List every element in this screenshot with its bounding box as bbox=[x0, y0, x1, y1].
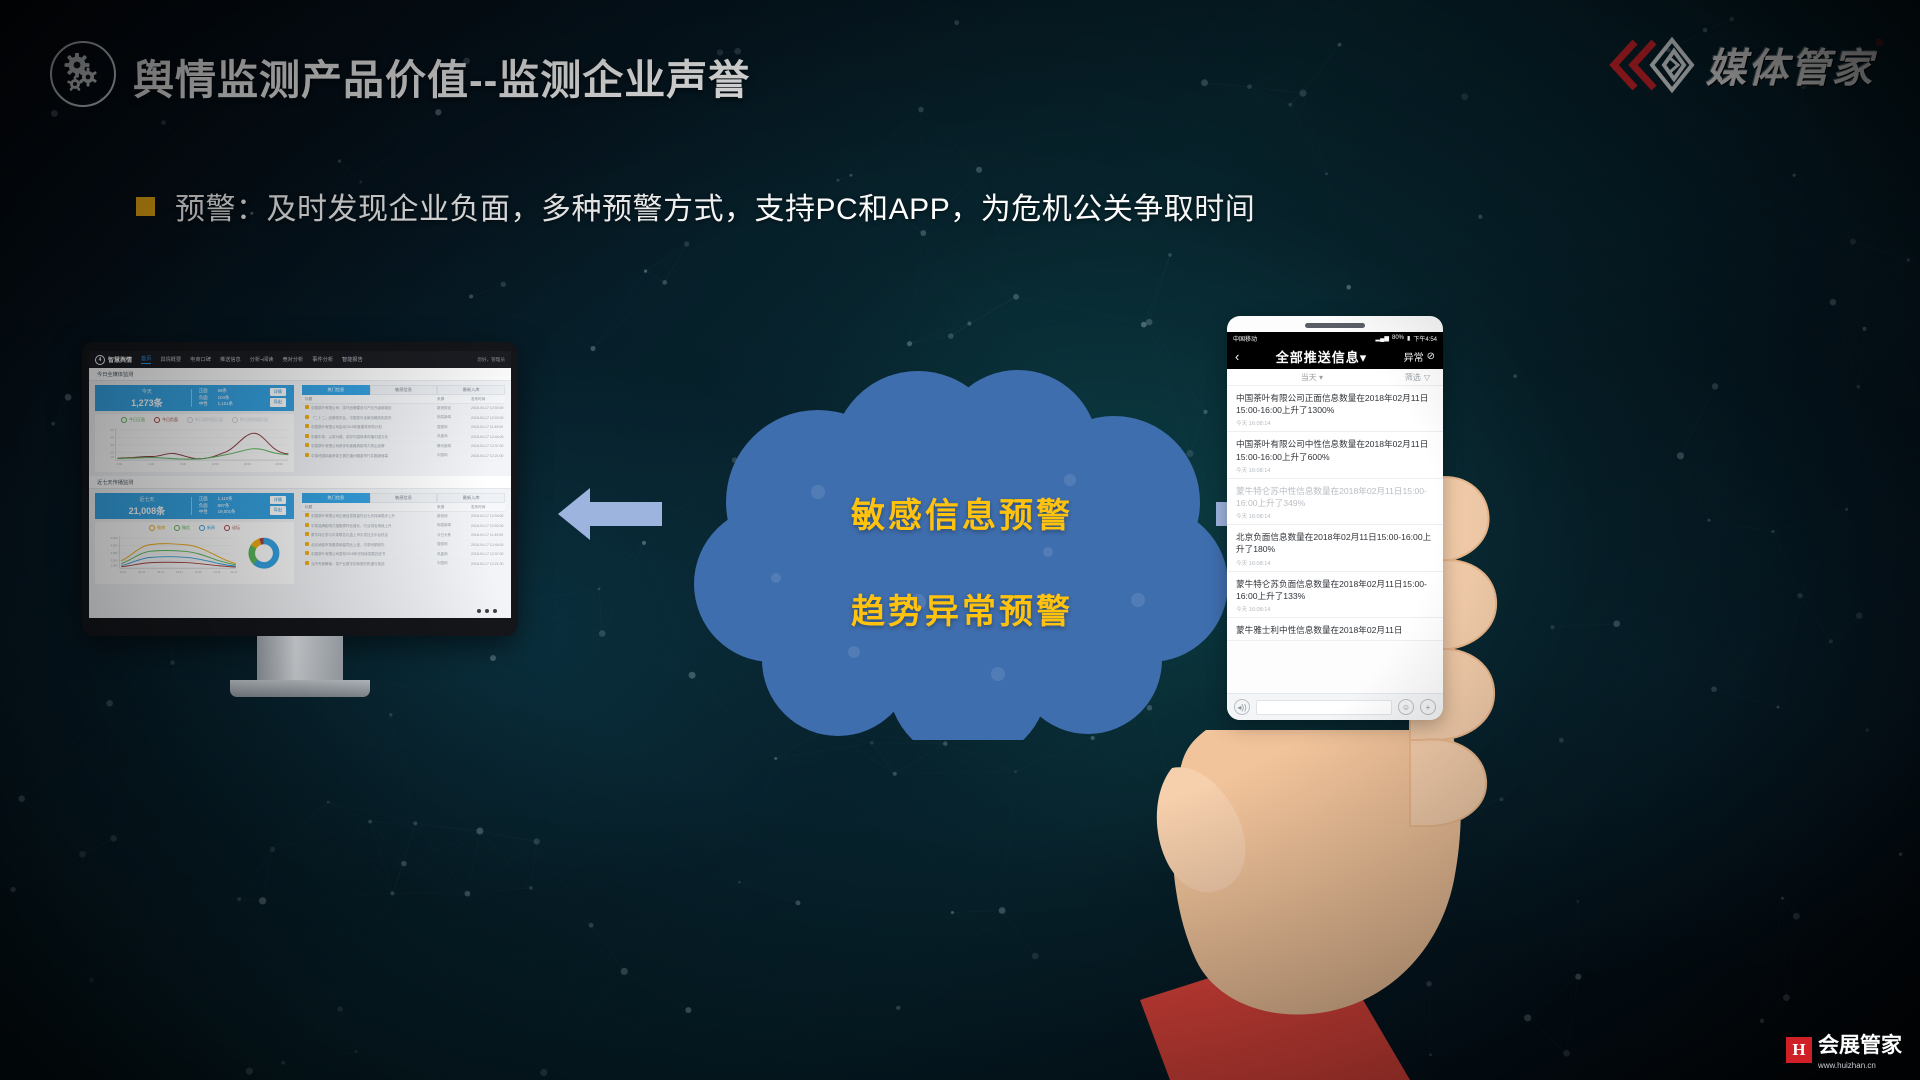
list-item[interactable]: 蒙牛特仑苏中性信息数量在2018年02月11日15:00-16:00上升了349… bbox=[1227, 479, 1443, 525]
legend-0: 今日正面 bbox=[129, 417, 145, 422]
watermark-mark: H bbox=[1786, 1037, 1812, 1063]
chevron-down-icon: ▾ bbox=[1319, 373, 1323, 382]
svg-text:04-14: 04-14 bbox=[176, 570, 183, 574]
app-user-label[interactable]: 您好，管理员 bbox=[477, 357, 505, 363]
message-time: 今天 16:08:14 bbox=[1236, 419, 1434, 427]
summary-count: 21,008条 bbox=[103, 504, 191, 517]
summary-stats: 正面 负面 中性 1,110条 897条 19,001条 bbox=[192, 496, 286, 516]
table-row[interactable]: 中粮中茶：以茶为媒，讲好中国故事传播中国文化凤凰网2018-04-17 12:4… bbox=[302, 433, 505, 443]
row-title: 中国茶叶有限公司：茶叶品牌建设与产业升级新路径 bbox=[311, 406, 392, 410]
app-logo-text: 智慧舆情 bbox=[108, 355, 132, 364]
svg-text:3,000: 3,000 bbox=[111, 551, 118, 555]
message-time: 今天 16:08:14 bbox=[1236, 512, 1434, 520]
smartphone: 中国移动 ▂▄▆ 80% ▮ 下午4:54 ‹ 全部推送信息▾ 异常 ⊘ bbox=[1227, 316, 1443, 720]
table-row[interactable]: 中茶杯国际鼎承茶王赛在福州隆重举行并圆满落幕中国网2018-04-17 12:2… bbox=[302, 452, 505, 462]
phone-input-bar: ◂)) ☺ + bbox=[1227, 693, 1443, 720]
tab-hot-week[interactable]: 热门信息 bbox=[302, 493, 370, 503]
table-row[interactable]: 「二十二」品牌发布会，中国茶叶全新战略亮相发布网易新闻2018-04-17 12… bbox=[302, 414, 505, 424]
app-navbar: 4 智慧舆情 首页 舆情概要 电商口碑 推送信息 分析¬阅读 竞对分析 事件分析… bbox=[89, 351, 511, 368]
legend-3: 昨日同时段负面 bbox=[240, 417, 268, 422]
plus-icon[interactable]: + bbox=[1420, 699, 1436, 715]
legend-1: 微信 bbox=[182, 525, 190, 530]
table-row[interactable]: 北京消费市场春茶销量同比上涨，中茶份额领先搜狐网2018-04-17 12:44… bbox=[302, 541, 505, 551]
svg-text:12:00: 12:00 bbox=[212, 462, 219, 466]
svg-text:40: 40 bbox=[110, 436, 114, 440]
row-source: 腾讯新闻 bbox=[437, 444, 471, 449]
row-time: 2018-04-17 12:44:00 bbox=[471, 435, 505, 439]
card-detail-button[interactable]: 详情 bbox=[270, 496, 286, 505]
row-time: 2018-04-17 11:49:00 bbox=[471, 533, 505, 537]
stat-label-0: 正面 bbox=[199, 496, 208, 503]
svg-text:8:00: 8:00 bbox=[181, 462, 187, 466]
table-row[interactable]: 业内专家解读：茶产业数字化转型的机遇与挑战中国网2018-04-17 12:21… bbox=[302, 560, 505, 570]
message-time: 今天 16:08:14 bbox=[1236, 466, 1434, 474]
summary-card-main: 今天 1,273条 bbox=[103, 388, 191, 409]
monitor-bezel: 4 智慧舆情 首页 舆情概要 电商口碑 推送信息 分析¬阅读 竞对分析 事件分析… bbox=[82, 342, 518, 636]
nav-item-5[interactable]: 竞对分析 bbox=[282, 356, 303, 363]
list-item[interactable]: 中国茶叶有限公司正面信息数量在2018年02月11日15:00-16:00上升了… bbox=[1227, 386, 1443, 432]
legend-0: 微博 bbox=[157, 525, 165, 530]
message-time: 今天 16:08:14 bbox=[1236, 559, 1434, 567]
row-title: 蒙牛特仑苏与中茶联名礼盒上市引发社交平台热议 bbox=[311, 533, 388, 537]
arrow-left-icon bbox=[558, 484, 662, 544]
chart-legend-today: 今日正面 今日负面 昨日同时段正面 昨日同时段负面 bbox=[95, 414, 294, 423]
list-item[interactable]: 蒙牛特仑苏负面信息数量在2018年02月11日15:00-16:00上升了133… bbox=[1227, 572, 1443, 618]
svg-text:04-11: 04-11 bbox=[120, 570, 127, 574]
summary-card-week: 近七天 21,008条 正面 负面 中性 bbox=[95, 493, 294, 519]
hand-holding-phone: 中国移动 ▂▄▆ 80% ▮ 下午4:54 ‹ 全部推送信息▾ 异常 ⊘ bbox=[1110, 300, 1540, 1080]
phone-earpiece bbox=[1305, 323, 1365, 328]
summary-card-today: 今天 1,273条 正面 负面 中性 bbox=[95, 385, 294, 411]
row-source: 搜狐网 bbox=[437, 425, 471, 430]
table-head-week: 标题 来源 发布时间 bbox=[302, 503, 505, 512]
message-text: 中国茶叶有限公司正面信息数量在2018年02月11日15:00-16:00上升了… bbox=[1236, 392, 1434, 416]
app-logo: 4 智慧舆情 bbox=[95, 355, 132, 365]
svg-text:4,000: 4,000 bbox=[111, 544, 118, 548]
table-row[interactable]: 中国茶叶有限公司正面信息数量在近七天持续稳步上升新浪网2018-04-17 12… bbox=[302, 512, 505, 522]
stat-label-0: 正面 bbox=[199, 388, 208, 395]
summary-period: 近七天 bbox=[103, 496, 191, 503]
nav-item-0[interactable]: 首页 bbox=[141, 355, 151, 364]
phone-filter-bar: 当天 ▾ 筛选 ▽ bbox=[1227, 369, 1443, 386]
summary-stats: 正面 负面 中性 68条 104条 1,101条 bbox=[192, 388, 286, 408]
row-time: 2018-04-17 12:21:00 bbox=[471, 562, 505, 566]
stat-label-2: 中性 bbox=[199, 509, 208, 516]
row-source: 搜狐网 bbox=[437, 542, 471, 547]
bullet-marker-icon bbox=[136, 197, 155, 216]
row-source: 新浪财经 bbox=[437, 406, 471, 411]
legend-2: 新闻 bbox=[207, 525, 215, 530]
svg-text:04-13: 04-13 bbox=[157, 570, 164, 574]
phone-header-title: 全部推送信息 bbox=[1276, 350, 1360, 365]
svg-text:1,000: 1,000 bbox=[111, 563, 118, 567]
row-title: 中国茶叶有限公司获评年度最具影响力茶企品牌 bbox=[311, 444, 385, 448]
range-label: 当天 bbox=[1301, 373, 1317, 382]
svg-text:30: 30 bbox=[110, 443, 114, 447]
svg-text:04-12: 04-12 bbox=[139, 570, 146, 574]
table-row[interactable]: 中国茶叶有限公司发布2018年可持续发展白皮书凤凰网2018-04-17 12:… bbox=[302, 550, 505, 560]
message-text: 蒙牛雅士利中性信息数量在2018年02月11日 bbox=[1236, 624, 1434, 636]
svg-text:04-16: 04-16 bbox=[214, 570, 221, 574]
svg-text:04-15: 04-15 bbox=[195, 570, 202, 574]
chart-legend-week: 微博 微信 新闻 论坛 bbox=[95, 522, 294, 531]
table-head-today: 标题 来源 发布时间 bbox=[302, 395, 505, 404]
nav-item-6[interactable]: 事件分析 bbox=[312, 356, 333, 363]
table-row[interactable]: 中国茶叶有限公司：茶叶品牌建设与产业升级新路径新浪财经2018-04-17 12… bbox=[302, 404, 505, 414]
row-title: 中国茶叶有限公司正面信息数量在近七天持续稳步上升 bbox=[311, 514, 395, 518]
double-chevron-diamond-icon bbox=[1608, 34, 1696, 96]
tab-sensitive-week[interactable]: 敏感信息 bbox=[370, 493, 438, 503]
brand-logo-text: 媒体管家 bbox=[1706, 36, 1874, 94]
row-time: 2018-04-17 12:37:00 bbox=[471, 552, 505, 556]
watermark-text: 会展管家 bbox=[1818, 1034, 1902, 1057]
nav-item-7[interactable]: 智能报告 bbox=[342, 356, 363, 363]
tab-sensitive-today[interactable]: 敏感信息 bbox=[370, 385, 438, 395]
row-time: 2018-04-17 12:02:00 bbox=[471, 416, 505, 420]
monitor-screen: 4 智慧舆情 首页 舆情概要 电商口碑 推送信息 分析¬阅读 竞对分析 事件分析… bbox=[89, 351, 511, 618]
nav-item-2[interactable]: 电商口碑 bbox=[190, 356, 211, 363]
table-row[interactable]: 蒙牛特仑苏与中茶联名礼盒上市引发社交平台热议今日头条2018-04-17 11:… bbox=[302, 531, 505, 541]
row-time: 2018-04-17 12:44:00 bbox=[471, 543, 505, 547]
col-source: 来源 bbox=[437, 505, 471, 510]
desktop-monitor: 4 智慧舆情 首页 舆情概要 电商口碑 推送信息 分析¬阅读 竞对分析 事件分析… bbox=[82, 342, 518, 697]
tab-hot-today[interactable]: 热门信息 bbox=[302, 385, 370, 395]
message-text: 北京负面信息数量在2018年02月11日15:00-16:00上升了180% bbox=[1236, 531, 1434, 555]
row-title: 中茶品牌影响力指数周环比增长，行业排名继续上升 bbox=[311, 524, 392, 528]
col-title: 标题 bbox=[302, 397, 437, 402]
row-source: 凤凰网 bbox=[437, 552, 471, 557]
panel-title-week: 近七天传播监测 bbox=[89, 476, 511, 489]
today-trend-svg: 504030 2010 0:004:008:00 12:0016:0020:00 bbox=[95, 423, 294, 469]
row-time: 2018-04-17 12:02:00 bbox=[471, 524, 505, 528]
table-tabs-today: 热门信息 敏感信息 最新入库 bbox=[302, 385, 505, 395]
legend-1: 今日负面 bbox=[162, 417, 178, 422]
summary-count: 1,273条 bbox=[103, 396, 191, 409]
row-source: 新浪网 bbox=[437, 514, 471, 519]
monitor-stand-neck bbox=[257, 636, 343, 680]
chevron-down-icon: ▾ bbox=[1360, 350, 1368, 365]
svg-text:50: 50 bbox=[110, 428, 114, 432]
row-source: 今日头条 bbox=[437, 533, 471, 538]
card-detail-button[interactable]: 详情 bbox=[270, 388, 286, 397]
row-title: 北京消费市场春茶销量同比上涨，中茶份额领先 bbox=[311, 543, 385, 547]
back-chevron-icon[interactable]: ‹ bbox=[1235, 349, 1239, 364]
list-item[interactable]: 北京负面信息数量在2018年02月11日15:00-16:00上升了180% 今… bbox=[1227, 525, 1443, 571]
stat-label-2: 中性 bbox=[199, 401, 208, 408]
brand-logo: 媒体管家 ® bbox=[1608, 26, 1874, 104]
row-source: 网易新闻 bbox=[437, 523, 471, 528]
monitor-stand-base bbox=[230, 680, 370, 697]
row-time: 2018-04-17 12:04:00 bbox=[471, 406, 505, 410]
line-chart-today: 今日正面 今日负面 昨日同时段正面 昨日同时段负面 bbox=[95, 414, 294, 472]
nav-item-1[interactable]: 舆情概要 bbox=[160, 356, 181, 363]
svg-text:10: 10 bbox=[110, 455, 114, 459]
phone-status-bar: 中国移动 ▂▄▆ 80% ▮ 下午4:54 bbox=[1227, 332, 1443, 344]
message-time: 今天 16:08:14 bbox=[1236, 605, 1434, 613]
svg-text:20:00: 20:00 bbox=[275, 462, 282, 466]
col-title: 标题 bbox=[302, 505, 437, 510]
slide-root: 舆情监测产品价值--监测企业声誉 媒体管家 ® 预警：及时发现企业负面，多种预警… bbox=[0, 0, 1920, 1080]
speaker-icon[interactable]: ◂)) bbox=[1234, 699, 1250, 715]
stat-value-2: 19,001条 bbox=[218, 509, 236, 516]
row-source: 中国网 bbox=[437, 453, 471, 458]
row-title: 中国茶叶有限公司发布2018年可持续发展白皮书 bbox=[311, 552, 385, 556]
battery-icon: ▮ bbox=[1407, 335, 1410, 342]
table-row[interactable]: 中茶品牌影响力指数周环比增长，行业排名继续上升网易新闻2018-04-17 12… bbox=[302, 522, 505, 532]
summary-period: 今天 bbox=[103, 388, 191, 395]
row-title: 「二十二」品牌发布会，中国茶叶全新战略亮相发布 bbox=[311, 416, 392, 420]
week-trend-svg: 5,0004,0003,000 2,0001,000 04-1104-1204-… bbox=[95, 531, 294, 581]
watermark-url: www.huizhan.cn bbox=[1818, 1061, 1902, 1070]
stat-value-0: 1,110条 bbox=[218, 496, 236, 503]
svg-text:04-17: 04-17 bbox=[231, 570, 238, 574]
message-text: 蒙牛特仑苏负面信息数量在2018年02月11日15:00-16:00上升了133… bbox=[1236, 578, 1434, 602]
legend-3: 论坛 bbox=[232, 525, 240, 530]
row-time: 2018-04-17 12:04:00 bbox=[471, 514, 505, 518]
col-time: 发布时间 bbox=[471, 397, 505, 402]
row-title: 中国茶叶有限公司启动2018年度春茶采购计划 bbox=[311, 425, 382, 429]
svg-text:16:00: 16:00 bbox=[244, 462, 251, 466]
message-input[interactable] bbox=[1256, 700, 1392, 715]
card-export-button[interactable]: 导出 bbox=[270, 506, 286, 515]
row-title: 业内专家解读：茶产业数字化转型的机遇与挑战 bbox=[311, 562, 385, 566]
row-time: 2018-04-17 12:21:00 bbox=[471, 454, 505, 458]
table-row[interactable]: 中国茶叶有限公司获评年度最具影响力茶企品牌腾讯新闻2018-04-17 12:3… bbox=[302, 442, 505, 452]
nav-item-4[interactable]: 分析¬阅读 bbox=[250, 356, 274, 363]
row-title: 中茶杯国际鼎承茶王赛在福州隆重举行并圆满落幕 bbox=[311, 454, 388, 458]
signal-icon: ▂▄▆ bbox=[1376, 335, 1389, 342]
clock-label: 下午4:54 bbox=[1413, 334, 1437, 343]
message-text: 中国茶叶有限公司中性信息数量在2018年02月11日15:00-16:00上升了… bbox=[1236, 438, 1434, 462]
list-item[interactable]: 中国茶叶有限公司中性信息数量在2018年02月11日15:00-16:00上升了… bbox=[1227, 432, 1443, 478]
carrier-label: 中国移动 bbox=[1233, 334, 1257, 343]
stat-value-0: 68条 bbox=[218, 388, 233, 395]
panel-title-today: 今日全媒体监测 bbox=[89, 368, 511, 381]
funnel-icon: ▽ bbox=[1424, 373, 1430, 382]
registered-mark: ® bbox=[1876, 38, 1883, 49]
row-source: 中国网 bbox=[437, 561, 471, 566]
bullet-text: 预警：及时发现企业负面，多种预警方式，支持PC和APP，为危机公关争取时间 bbox=[175, 184, 1255, 228]
battery-percent: 80% bbox=[1392, 335, 1404, 341]
monitor-indicator bbox=[477, 609, 497, 613]
col-source: 来源 bbox=[437, 397, 471, 402]
filter-label: 筛选 bbox=[1405, 372, 1421, 383]
watermark: H 会展管家 www.huizhan.cn bbox=[1786, 1029, 1902, 1070]
gears-icon bbox=[50, 41, 116, 107]
message-text: 蒙牛特仑苏中性信息数量在2018年02月11日15:00-16:00上升了349… bbox=[1236, 485, 1434, 509]
table-tabs-week: 热门信息 敏感信息 最新入库 bbox=[302, 493, 505, 503]
row-title: 中粮中茶：以茶为媒，讲好中国故事传播中国文化 bbox=[311, 435, 388, 439]
table-row[interactable]: 中国茶叶有限公司启动2018年度春茶采购计划搜狐网2018-04-17 11:4… bbox=[302, 423, 505, 433]
tab-latest-week[interactable]: 最新入库 bbox=[437, 493, 505, 503]
row-time: 2018-04-17 11:49:00 bbox=[471, 425, 505, 429]
row-time: 2018-04-17 12:37:00 bbox=[471, 444, 505, 448]
svg-text:5,000: 5,000 bbox=[111, 536, 118, 540]
bullet-row: 预警：及时发现企业负面，多种预警方式，支持PC和APP，为危机公关争取时间 bbox=[136, 184, 1255, 228]
svg-text:0:00: 0:00 bbox=[117, 462, 123, 466]
abnormal-label: 异常 bbox=[1404, 349, 1424, 364]
summary-card-main: 近七天 21,008条 bbox=[103, 496, 191, 517]
circle-slash-icon: ⊘ bbox=[1427, 351, 1435, 362]
col-time: 发布时间 bbox=[471, 505, 505, 510]
page-title: 舆情监测产品价值--监测企业声誉 bbox=[133, 46, 750, 106]
app-logo-mark: 4 bbox=[95, 355, 105, 365]
svg-text:4:00: 4:00 bbox=[149, 462, 155, 466]
svg-text:2,000: 2,000 bbox=[111, 559, 118, 563]
phone-app-header: ‹ 全部推送信息▾ 异常 ⊘ bbox=[1227, 344, 1443, 369]
line-chart-week: 微博 微信 新闻 论坛 bbox=[95, 522, 294, 584]
row-source: 网易新闻 bbox=[437, 415, 471, 420]
legend-2: 昨日同时段正面 bbox=[195, 417, 223, 422]
row-source: 凤凰网 bbox=[437, 434, 471, 439]
smiley-icon[interactable]: ☺ bbox=[1398, 699, 1414, 715]
stat-value-2: 1,101条 bbox=[218, 401, 233, 408]
list-item[interactable]: 蒙牛雅士利中性信息数量在2018年02月11日 bbox=[1227, 618, 1443, 641]
svg-text:20: 20 bbox=[110, 451, 114, 455]
nav-item-3[interactable]: 推送信息 bbox=[220, 356, 241, 363]
card-export-button[interactable]: 导出 bbox=[270, 398, 286, 407]
tab-latest-today[interactable]: 最新入库 bbox=[437, 385, 505, 395]
sentiment-donut bbox=[247, 536, 281, 570]
